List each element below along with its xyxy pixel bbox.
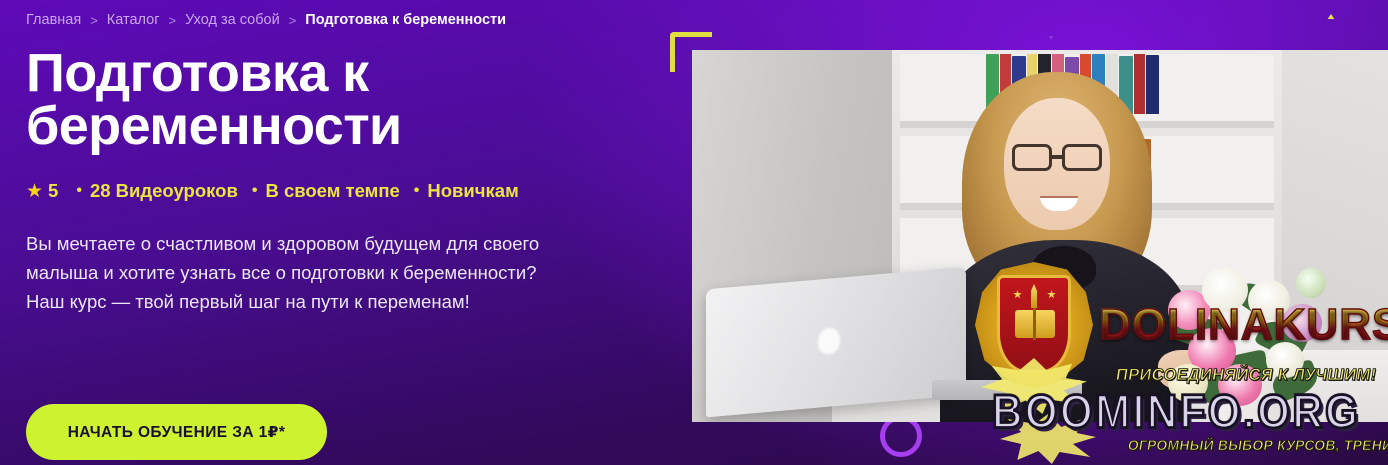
flower-bouquet: [1162, 246, 1352, 422]
start-learning-button[interactable]: НАЧАТЬ ОБУЧЕНИЕ ЗА 1₽*: [26, 404, 327, 460]
breadcrumb: Главная > Каталог > Уход за собой > Подг…: [26, 0, 646, 28]
hero-banner: Главная > Каталог > Уход за собой > Подг…: [0, 0, 1388, 465]
breadcrumb-separator: >: [90, 13, 98, 28]
breadcrumb-separator: >: [289, 13, 297, 28]
breadcrumb-item-home[interactable]: Главная: [26, 12, 81, 28]
hero-photo: [692, 50, 1388, 422]
glasses-icon: [1012, 144, 1052, 171]
breadcrumb-item-selfcare[interactable]: Уход за собой: [185, 12, 280, 28]
meta-level: Новичкам: [427, 180, 518, 202]
rating-group: ★5: [26, 180, 58, 202]
triangle-outline-icon: [1019, 0, 1081, 40]
watermark-tagline-boominfo: ОГРОМНЫЙ ВЫБОР КУРСОВ, ТРЕНИНГОВ, КНИГ: [1127, 437, 1388, 453]
course-description: Вы мечтаете о счастливом и здоровом буду…: [26, 230, 546, 317]
meta-pace: В своем темпе: [265, 180, 399, 202]
star-icon: ★: [26, 181, 43, 202]
breadcrumb-separator: >: [169, 13, 177, 28]
meta-lessons: 28 Видеоуроков: [90, 180, 238, 202]
breadcrumb-item-catalog[interactable]: Каталог: [107, 12, 160, 28]
bullet-icon: •: [252, 182, 258, 200]
breadcrumb-item-current: Подготовка к беременности: [305, 12, 506, 28]
rating-value: 5: [48, 180, 58, 201]
bullet-icon: •: [76, 182, 82, 200]
course-meta: ★5 • 28 Видеоуроков • В своем темпе • Но…: [26, 180, 646, 202]
page-title: Подготовка к беременности: [26, 47, 546, 154]
hero-content: Главная > Каталог > Уход за собой > Подг…: [26, 0, 646, 465]
bullet-icon: •: [414, 182, 420, 200]
